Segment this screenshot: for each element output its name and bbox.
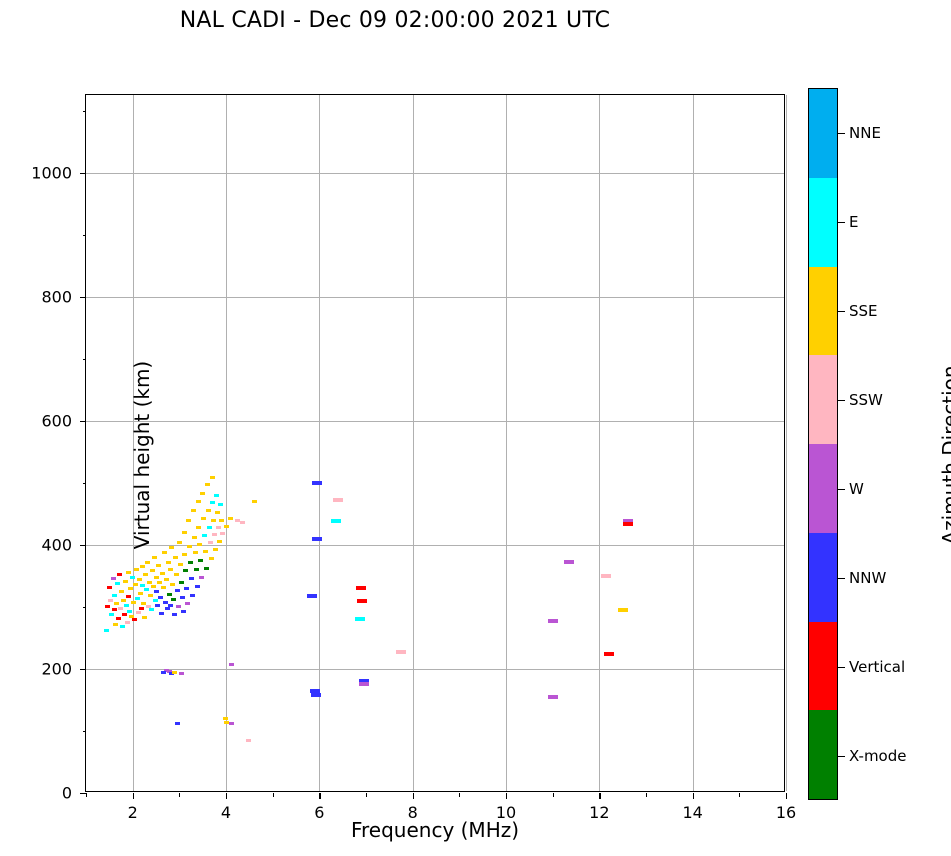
data-point	[359, 682, 369, 686]
colorbar-segment-vertical[interactable]	[809, 622, 837, 711]
data-point	[207, 526, 212, 529]
data-point	[166, 561, 171, 564]
data-point	[120, 625, 125, 628]
data-point	[168, 604, 173, 607]
data-point	[246, 739, 251, 742]
data-point	[104, 629, 109, 632]
colorbar-title: Azimuth Direction	[938, 295, 951, 615]
data-point	[618, 608, 628, 612]
x-tick	[693, 793, 694, 799]
data-point	[198, 559, 203, 562]
data-point	[154, 590, 159, 593]
page-title: NAL CADI - Dec 09 02:00:00 2021 UTC	[0, 8, 790, 33]
data-point	[167, 593, 172, 596]
data-point	[202, 534, 207, 537]
data-point	[127, 610, 132, 613]
data-point	[211, 519, 216, 522]
y-tick	[80, 669, 86, 670]
data-point	[164, 578, 169, 581]
x-minor-tick	[366, 793, 367, 797]
data-point	[161, 671, 166, 674]
data-point	[219, 519, 224, 522]
colorbar-segment-x-mode[interactable]	[809, 710, 837, 799]
data-point	[180, 596, 185, 599]
data-point	[187, 545, 192, 548]
data-point	[157, 581, 162, 584]
data-point	[206, 509, 211, 512]
data-point	[172, 613, 177, 616]
x-minor-tick	[553, 793, 554, 797]
data-point	[216, 526, 221, 529]
colorbar-segment-ssw[interactable]	[809, 355, 837, 444]
data-point	[331, 519, 341, 523]
colorbar-tick	[838, 756, 845, 757]
data-point	[190, 594, 195, 597]
y-minor-tick	[83, 111, 87, 112]
data-point	[168, 568, 173, 571]
colorbar-tick	[838, 133, 845, 134]
data-point	[311, 693, 321, 697]
data-point	[119, 590, 124, 593]
data-point	[188, 561, 193, 564]
data-point	[210, 476, 215, 479]
data-point	[182, 553, 187, 556]
colorbar-label-nne: NNE	[849, 124, 881, 142]
data-point	[196, 526, 201, 529]
data-point	[357, 599, 367, 603]
data-point	[396, 650, 406, 654]
data-point	[224, 721, 229, 724]
data-point	[179, 672, 184, 675]
data-point	[218, 503, 223, 506]
data-point	[169, 546, 174, 549]
data-point	[113, 623, 118, 626]
data-point	[186, 519, 191, 522]
data-point	[115, 582, 120, 585]
data-point	[181, 610, 186, 613]
y-minor-tick	[83, 235, 87, 236]
data-point	[212, 533, 217, 536]
y-tick	[80, 297, 86, 298]
data-point	[155, 604, 160, 607]
y-tick-label: 200	[41, 659, 72, 678]
data-point	[564, 560, 574, 564]
data-layer	[86, 95, 784, 791]
data-point	[252, 500, 257, 503]
data-point	[183, 569, 188, 572]
y-tick-label: 800	[41, 287, 72, 306]
data-point	[176, 605, 181, 608]
data-point	[112, 608, 117, 611]
x-minor-tick	[273, 793, 274, 797]
colorbar-label-sse: SSE	[849, 302, 878, 320]
plot-area: 24681012141602004006008001000	[85, 94, 785, 792]
x-minor-tick	[646, 793, 647, 797]
data-point	[125, 621, 130, 624]
data-point	[210, 501, 215, 504]
data-point	[604, 652, 614, 656]
y-tick-label: 1000	[31, 163, 72, 182]
data-point	[170, 583, 175, 586]
data-point	[192, 536, 197, 539]
data-point	[149, 608, 154, 611]
colorbar-tick	[838, 578, 845, 579]
data-point	[209, 557, 214, 560]
data-point	[214, 494, 219, 497]
x-tick	[226, 793, 227, 799]
data-point	[154, 576, 159, 579]
data-point	[204, 567, 209, 570]
y-minor-tick	[83, 731, 87, 732]
y-tick-label: 0	[62, 784, 72, 803]
data-point	[175, 589, 180, 592]
data-point	[223, 717, 228, 720]
data-point	[142, 616, 147, 619]
colorbar-label-x-mode: X-mode	[849, 747, 906, 765]
data-point	[175, 722, 180, 725]
data-point	[178, 563, 183, 566]
y-tick-label: 600	[41, 411, 72, 430]
data-point	[136, 611, 141, 614]
x-tick	[599, 793, 600, 799]
data-point	[139, 607, 144, 610]
x-tick	[413, 793, 414, 799]
data-point	[107, 586, 112, 589]
data-point	[197, 543, 202, 546]
y-tick	[80, 173, 86, 174]
data-point	[312, 481, 322, 485]
data-point	[124, 604, 129, 607]
data-point	[156, 564, 161, 567]
x-tick	[133, 793, 134, 799]
data-point	[228, 517, 233, 520]
data-point	[229, 663, 234, 666]
data-point	[182, 531, 187, 534]
data-point	[122, 613, 127, 616]
colorbar-tick	[838, 400, 845, 401]
data-point	[356, 586, 366, 590]
colorbar-label-vertical: Vertical	[849, 658, 905, 676]
data-point	[108, 599, 113, 602]
data-point	[118, 607, 123, 610]
data-point	[163, 601, 168, 604]
data-point	[171, 598, 176, 601]
data-point	[205, 483, 210, 486]
data-point	[112, 594, 117, 597]
colorbar-segment-e[interactable]	[809, 178, 837, 267]
data-point	[173, 556, 178, 559]
colorbar-tick	[838, 667, 845, 668]
data-point	[116, 617, 121, 620]
data-point	[174, 573, 179, 576]
data-point	[312, 537, 322, 541]
y-tick	[80, 793, 86, 794]
data-point	[333, 498, 343, 502]
data-point	[109, 613, 114, 616]
data-point	[189, 577, 194, 580]
colorbar-label-w: W	[849, 480, 864, 498]
y-tick-label: 400	[41, 535, 72, 554]
data-point	[194, 568, 199, 571]
data-point	[160, 572, 165, 575]
data-point	[158, 596, 163, 599]
data-point	[220, 532, 225, 535]
data-point	[213, 548, 218, 551]
data-point	[548, 695, 558, 699]
data-point	[123, 580, 128, 583]
colorbar-tick	[838, 311, 845, 312]
colorbar[interactable]	[808, 88, 838, 800]
colorbar-label-ssw: SSW	[849, 391, 883, 409]
data-point	[177, 541, 182, 544]
x-tick	[319, 793, 320, 799]
data-point	[229, 722, 234, 725]
data-point	[184, 587, 189, 590]
data-point	[601, 574, 611, 578]
data-point	[162, 551, 167, 554]
data-point	[114, 602, 119, 605]
colorbar-tick	[838, 222, 845, 223]
data-point	[161, 586, 166, 589]
colorbar-label-e: E	[849, 213, 858, 231]
data-point	[165, 607, 170, 610]
x-minor-tick	[179, 793, 180, 797]
data-point	[200, 492, 205, 495]
colorbar-segment-nnw[interactable]	[809, 533, 837, 622]
data-point	[217, 540, 222, 543]
data-point	[215, 511, 220, 514]
x-tick	[786, 793, 787, 799]
data-point	[105, 605, 110, 608]
x-minor-tick	[86, 793, 87, 797]
data-point	[195, 585, 200, 588]
colorbar-segment-nne[interactable]	[809, 89, 837, 178]
y-minor-tick	[83, 359, 87, 360]
data-point	[117, 573, 122, 576]
y-tick	[80, 545, 86, 546]
colorbar-label-nnw: NNW	[849, 569, 886, 587]
data-point	[193, 551, 198, 554]
gridline-vertical	[786, 95, 787, 791]
x-minor-tick	[739, 793, 740, 797]
y-tick	[80, 421, 86, 422]
data-point	[191, 509, 196, 512]
x-tick	[506, 793, 507, 799]
data-point	[179, 581, 184, 584]
data-point	[208, 541, 213, 544]
data-point	[185, 602, 190, 605]
data-point	[224, 525, 229, 528]
data-point	[172, 671, 177, 674]
data-point	[548, 619, 558, 623]
x-minor-tick	[459, 793, 460, 797]
data-point	[199, 576, 204, 579]
data-point	[240, 521, 245, 524]
y-axis-title: Virtual height (km)	[130, 305, 154, 605]
data-point	[196, 500, 201, 503]
colorbar-tick	[838, 489, 845, 490]
data-point	[121, 599, 126, 602]
data-point	[132, 618, 137, 621]
x-axis-title: Frequency (MHz)	[85, 818, 785, 842]
y-minor-tick	[83, 607, 87, 608]
data-point	[203, 550, 208, 553]
data-point	[201, 517, 206, 520]
data-point	[355, 617, 365, 621]
data-point	[623, 522, 633, 526]
colorbar-segment-sse[interactable]	[809, 267, 837, 356]
data-point	[159, 612, 164, 615]
y-minor-tick	[83, 483, 87, 484]
colorbar-segment-w[interactable]	[809, 444, 837, 533]
data-point	[307, 594, 317, 598]
data-point	[111, 577, 116, 580]
